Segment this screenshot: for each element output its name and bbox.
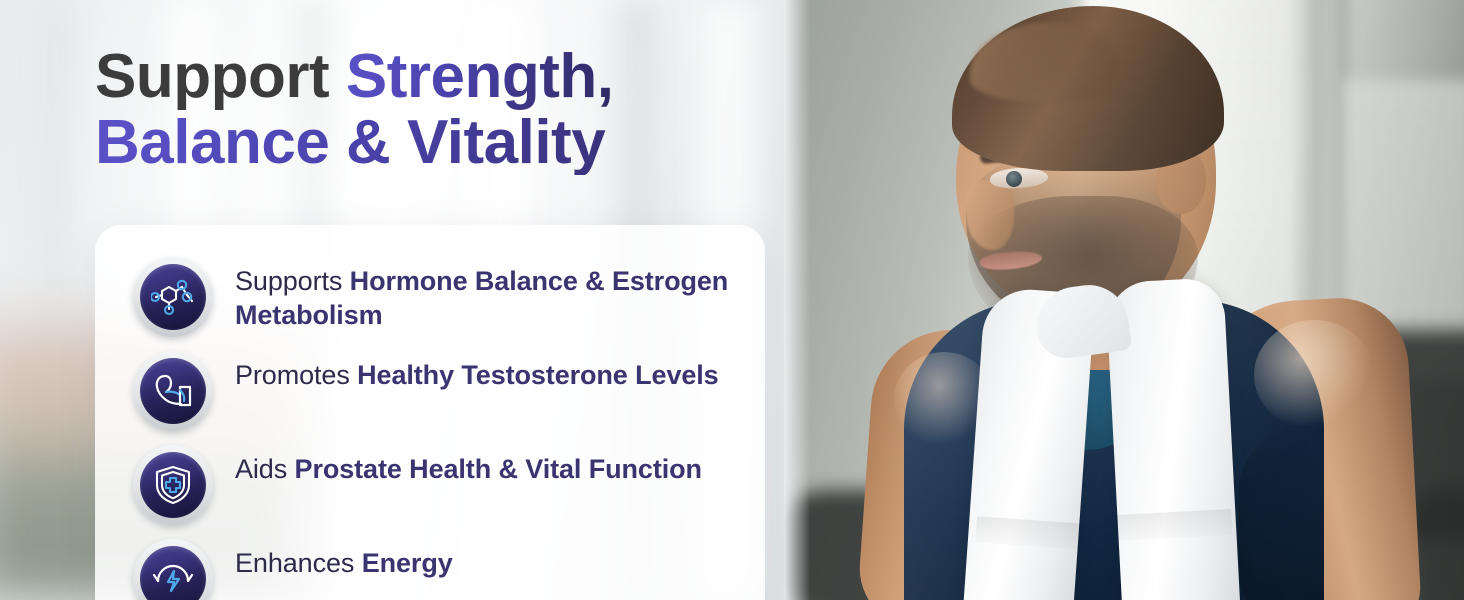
- benefit-icon-ring: [133, 351, 213, 431]
- benefit-item: Enhances Energy: [133, 539, 739, 600]
- model-hair-highlight: [970, 22, 1120, 102]
- benefit-icon-ring: [133, 257, 213, 337]
- benefit-emphasis-text: Energy: [362, 548, 453, 578]
- benefits-card: Supports Hormone Balance & Estrogen Meta…: [95, 225, 765, 600]
- model-pupil: [1006, 171, 1022, 187]
- benefit-item: Supports Hormone Balance & Estrogen Meta…: [133, 257, 739, 337]
- benefit-label: Enhances Energy: [235, 539, 453, 580]
- benefit-label: Promotes Healthy Testosterone Levels: [235, 351, 719, 392]
- headline-word-support: Support: [95, 42, 346, 111]
- shield-medical-cross-icon: [140, 452, 206, 518]
- headline-word-strength: Strength,: [346, 42, 614, 111]
- benefit-lead-text: Aids: [235, 454, 295, 484]
- shoulder-highlight: [1254, 320, 1374, 430]
- benefit-emphasis-text: Prostate Health & Vital Function: [295, 454, 702, 484]
- energy-refresh-icon: [140, 546, 206, 600]
- flexed-bicep-icon: [140, 358, 206, 424]
- headline-line-1: Support Strength,: [95, 44, 775, 110]
- benefit-label: Supports Hormone Balance & Estrogen Meta…: [235, 257, 739, 332]
- benefit-emphasis-text: Healthy Testosterone Levels: [357, 360, 718, 390]
- model-nose: [966, 180, 1014, 250]
- benefit-lead-text: Enhances: [235, 548, 362, 578]
- benefit-lead-text: Promotes: [235, 360, 357, 390]
- benefit-item: Promotes Healthy Testosterone Levels: [133, 351, 739, 431]
- benefit-lead-text: Supports: [235, 266, 350, 296]
- benefit-icon-ring: [133, 445, 213, 525]
- benefit-item: Aids Prostate Health & Vital Function: [133, 445, 739, 525]
- bicep-shading: [1239, 430, 1414, 600]
- model-figure: [784, 0, 1464, 600]
- promo-banner: Support Strength, Balance & Vitality: [0, 0, 1464, 600]
- page-title: Support Strength, Balance & Vitality: [95, 44, 775, 175]
- benefit-label: Aids Prostate Health & Vital Function: [235, 445, 702, 486]
- benefit-icon-ring: [133, 539, 213, 600]
- headline-line-2: Balance & Vitality: [95, 110, 775, 176]
- hero-photo: [784, 0, 1464, 600]
- molecule-icon: [140, 264, 206, 330]
